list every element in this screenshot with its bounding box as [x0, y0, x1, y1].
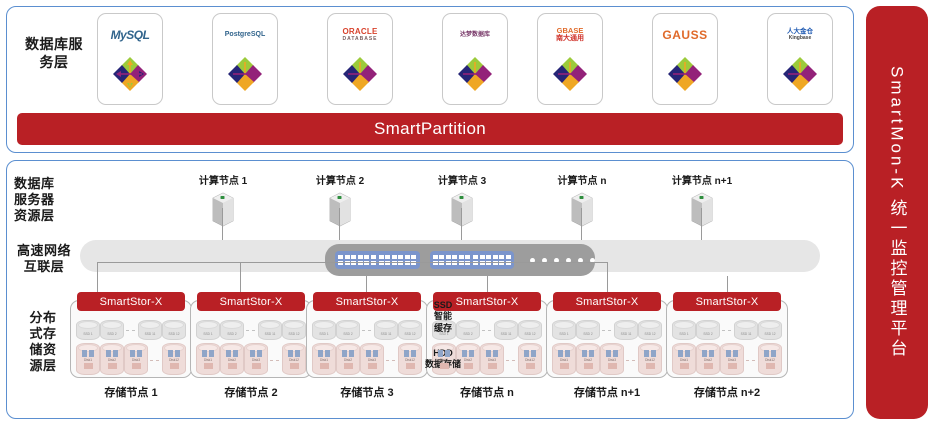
hdd-ellipsis — [386, 360, 396, 361]
compute-node-n[interactable]: 计算节点 n — [545, 172, 619, 228]
compute-node-3[interactable]: 计算节点 3 — [425, 172, 499, 228]
server-icon — [449, 190, 475, 228]
pinwheel-icon — [664, 53, 706, 95]
annotation-line: 智能 — [418, 311, 468, 322]
ssd-unit: SSD 11 — [494, 320, 518, 340]
hdd-row: Disk1 Disk2 Disk3 Disk12 — [547, 341, 667, 375]
ssd-unit: SSD 2 — [576, 320, 600, 340]
compute-node-label: 计算节点 2 — [303, 172, 377, 187]
server-icon — [569, 190, 595, 228]
layer-line: 互联层 — [6, 259, 82, 275]
architecture-diagram: 数据库服务层 MySQL — [0, 0, 945, 425]
storage-node-2[interactable]: SmartStor-X SSD 1 SSD 2 SSD 11 SSD 12 Di… — [190, 300, 312, 400]
hdd-ellipsis — [506, 360, 516, 361]
pinwheel-icon — [224, 53, 266, 95]
ssd-ellipsis — [126, 330, 136, 331]
hdd-unit: Disk1 — [672, 343, 696, 375]
layer-line: 服务器 — [14, 192, 80, 208]
ssd-unit: SSD 1 — [76, 320, 100, 340]
storage-node-title: SmartStor-X — [553, 292, 661, 311]
storage-node-caption: 存储节点 2 — [190, 384, 312, 400]
server-icon — [689, 190, 715, 228]
smartpartition-bar[interactable]: SmartPartition — [17, 113, 843, 145]
storage-node-caption: 存储节点 3 — [306, 384, 428, 400]
layer-label-database-service: 数据库服务层 — [23, 35, 85, 71]
compute-node-label: 计算节点 1 — [186, 172, 260, 187]
layer-label-network-interconnect: 高速网络 互联层 — [6, 243, 82, 275]
ssd-row: SSD 1 SSD 2 SSD 11 SSD 12 — [667, 317, 787, 341]
storage-node-3[interactable]: SmartStor-X SSD 1 SSD 2 SSD 11 SSD 12 Di… — [306, 300, 428, 400]
ssd-ellipsis — [246, 330, 256, 331]
hdd-unit: Disk12 — [518, 343, 542, 375]
layer-line: 资源层 — [14, 208, 80, 224]
storage-node-box: SmartStor-X SSD 1 SSD 2 SSD 11 SSD 12 Di… — [666, 300, 788, 378]
hdd-unit: Disk2 — [336, 343, 360, 375]
pinwheel-icon — [109, 53, 151, 95]
ssd-unit: SSD 12 — [638, 320, 662, 340]
hdd-ellipsis — [150, 360, 160, 361]
ssd-unit: SSD 11 — [734, 320, 758, 340]
hdd-row: Disk1 Disk2 Disk3 Disk12 — [191, 341, 311, 375]
hdd-row: Disk1 Disk2 Disk3 Disk12 — [307, 341, 427, 375]
hdd-row: Disk1 Disk2 Disk3 Disk12 — [667, 341, 787, 375]
hdd-unit: Disk1 — [196, 343, 220, 375]
smartpartition-label: SmartPartition — [374, 119, 486, 139]
pinwheel-icon — [454, 53, 496, 95]
storage-node-title: SmartStor-X — [197, 292, 305, 311]
ssd-unit: SSD 12 — [758, 320, 782, 340]
hdd-unit: Disk2 — [696, 343, 720, 375]
hdd-unit: Disk3 — [124, 343, 148, 375]
ssd-unit: SSD 12 — [282, 320, 306, 340]
switch-port-block — [335, 251, 420, 269]
db-card-gbase[interactable]: GBASE 南大通用 — [537, 13, 603, 105]
layer-label-db-server-resource: 数据库 服务器 资源层 — [8, 176, 80, 224]
hdd-unit: Disk12 — [162, 343, 186, 375]
db-card-gauss[interactable]: GAUSS — [652, 13, 718, 105]
ssd-unit: SSD 11 — [258, 320, 282, 340]
ssd-unit: SSD 2 — [696, 320, 720, 340]
hdd-ellipsis — [746, 360, 756, 361]
hdd-ellipsis — [626, 360, 636, 361]
smartmon-label: SmartMon-K 统一监控管理平台 — [885, 66, 910, 359]
dm-logo: 达梦数据库 — [443, 20, 507, 50]
ssd-ellipsis — [602, 330, 612, 331]
ssd-unit: SSD 12 — [162, 320, 186, 340]
db-card-dm[interactable]: 达梦数据库 — [442, 13, 508, 105]
hdd-unit: Disk2 — [220, 343, 244, 375]
compute-node-label: 计算节点 n — [545, 172, 619, 187]
ssd-unit: SSD 1 — [672, 320, 696, 340]
storage-node-title: SmartStor-X — [673, 292, 781, 311]
layer-line: 储资 — [12, 342, 74, 358]
smartmon-platform-bar[interactable]: SmartMon-K 统一监控管理平台 — [866, 6, 928, 419]
storage-node-caption: 存储节点 n+2 — [666, 384, 788, 400]
ssd-unit: SSD 2 — [336, 320, 360, 340]
oracle-logo: ORACLE DATABASE — [328, 20, 392, 50]
connector-storage-bus — [97, 262, 607, 263]
compute-node-2[interactable]: 计算节点 2 — [303, 172, 377, 228]
compute-node-1[interactable]: 计算节点 1 — [186, 172, 260, 228]
db-card-kingbase[interactable]: 人大金仓 Kingbase — [767, 13, 833, 105]
mysql-logo: MySQL — [98, 20, 162, 50]
ssd-row: SSD 1 SSD 2 SSD 11 SSD 12 — [307, 317, 427, 341]
ssd-ellipsis — [362, 330, 372, 331]
hdd-unit: Disk12 — [758, 343, 782, 375]
ssd-unit: SSD 11 — [374, 320, 398, 340]
layer-label-distributed-storage: 分布 式存 储资 源层 — [12, 310, 74, 373]
server-icon — [327, 190, 353, 228]
hdd-ellipsis — [270, 360, 280, 361]
pinwheel-icon — [549, 53, 591, 95]
storage-node-box: SmartStor-X SSD 1 SSD 2 SSD 11 SSD 12 Di… — [546, 300, 668, 378]
layer-line: 源层 — [12, 358, 74, 374]
ssd-unit: SSD 2 — [220, 320, 244, 340]
hdd-unit: Disk3 — [360, 343, 384, 375]
gauss-logo: GAUSS — [653, 20, 717, 50]
db-card-oracle[interactable]: ORACLE DATABASE — [327, 13, 393, 105]
storage-node-caption: 存储节点 1 — [70, 384, 192, 400]
db-card-postgresql[interactable]: PostgreSQL — [212, 13, 278, 105]
ssd-unit: SSD 1 — [552, 320, 576, 340]
db-card-mysql[interactable]: MySQL — [97, 13, 163, 105]
storage-node-n-plus-2[interactable]: SmartStor-X SSD 1 SSD 2 SSD 11 SSD 12 Di… — [666, 300, 788, 400]
hdd-unit: Disk12 — [638, 343, 662, 375]
annotation-line: SSD — [418, 300, 468, 311]
hdd-unit: Disk12 — [282, 343, 306, 375]
hdd-unit: Disk1 — [552, 343, 576, 375]
compute-node-label: 计算节点 3 — [425, 172, 499, 187]
compute-node-label: 计算节点 n+1 — [665, 172, 739, 187]
hdd-row: Disk1 Disk2 Disk3 Disk12 — [71, 341, 191, 375]
ssd-unit: SSD 12 — [518, 320, 542, 340]
hdd-unit: Disk2 — [100, 343, 124, 375]
ssd-unit: SSD 11 — [614, 320, 638, 340]
storage-node-title: SmartStor-X — [77, 292, 185, 311]
postgresql-logo: PostgreSQL — [213, 20, 277, 50]
hdd-unit: Disk3 — [720, 343, 744, 375]
ssd-unit: SSD 11 — [138, 320, 162, 340]
network-switch[interactable] — [325, 244, 595, 276]
storage-node-title: SmartStor-X — [313, 292, 421, 311]
hdd-unit: Disk3 — [244, 343, 268, 375]
hdd-unit: Disk2 — [576, 343, 600, 375]
storage-node-n-plus-1[interactable]: SmartStor-X SSD 1 SSD 2 SSD 11 SSD 12 Di… — [546, 300, 668, 400]
layer-line: 分布 — [12, 310, 74, 326]
storage-node-box: SmartStor-X SSD 1 SSD 2 SSD 11 SSD 12 Di… — [306, 300, 428, 378]
ssd-row: SSD 1 SSD 2 SSD 11 SSD 12 — [547, 317, 667, 341]
hdd-unit: Disk3 — [600, 343, 624, 375]
pinwheel-icon — [779, 53, 821, 95]
storage-node-box: SmartStor-X SSD 1 SSD 2 SSD 11 SSD 12 Di… — [70, 300, 192, 378]
layer-line: 数据库 — [14, 176, 80, 192]
storage-node-caption: 存储节点 n+1 — [546, 384, 668, 400]
ssd-ellipsis — [482, 330, 492, 331]
storage-node-1[interactable]: SmartStor-X SSD 1 SSD 2 SSD 11 SSD 12 Di… — [70, 300, 192, 400]
layer-line: 高速网络 — [6, 243, 82, 259]
storage-node-box: SmartStor-X SSD 1 SSD 2 SSD 11 SSD 12 Di… — [190, 300, 312, 378]
ssd-unit: SSD 2 — [100, 320, 124, 340]
hdd-unit: Disk3 — [480, 343, 504, 375]
storage-node-caption: 存储节点 n — [426, 384, 548, 400]
ssd-ellipsis — [722, 330, 732, 331]
layer-line: 式存 — [12, 326, 74, 342]
kingbase-logo: 人大金仓 Kingbase — [768, 20, 832, 50]
switch-port-block — [430, 251, 515, 269]
ssd-row: SSD 1 SSD 2 SSD 11 SSD 12 — [191, 317, 311, 341]
annotation-ssd-cache: SSD 智能 缓存 — [418, 300, 468, 334]
hdd-unit: Disk1 — [312, 343, 336, 375]
compute-node-n-plus-1[interactable]: 计算节点 n+1 — [665, 172, 739, 228]
gbase-logo: GBASE 南大通用 — [538, 20, 602, 50]
ssd-unit: SSD 1 — [196, 320, 220, 340]
hdd-unit: Disk1 — [76, 343, 100, 375]
ssd-unit: SSD 1 — [312, 320, 336, 340]
server-icon — [210, 190, 236, 228]
ssd-row: SSD 1 SSD 2 SSD 11 SSD 12 — [71, 317, 191, 341]
pinwheel-icon — [339, 53, 381, 95]
